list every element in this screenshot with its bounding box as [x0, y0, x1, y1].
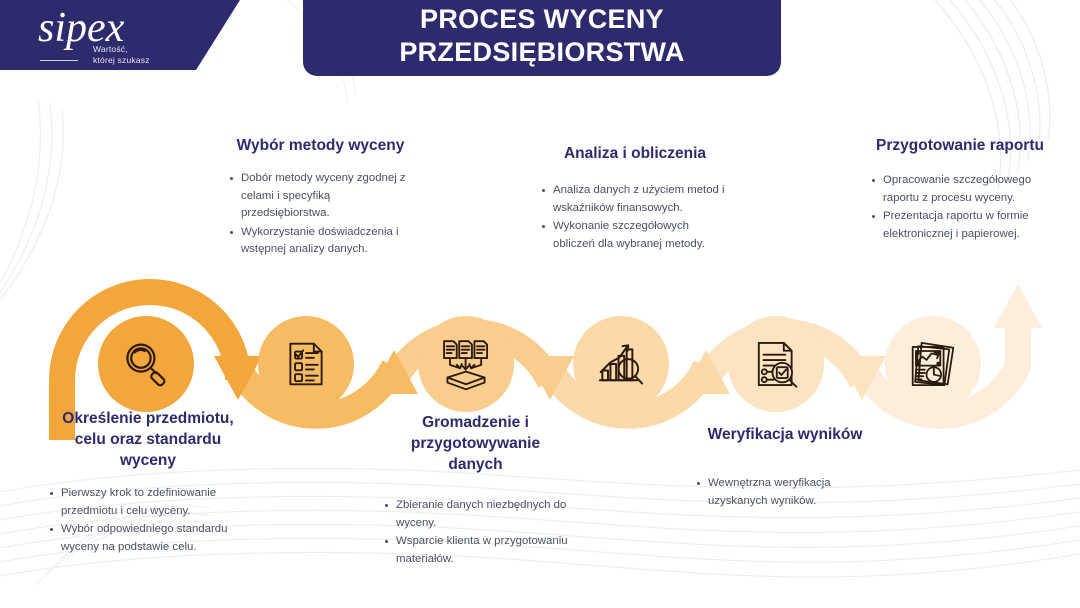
list-item: Wykorzystanie doświadczenia i wstępnej a… [241, 224, 413, 259]
step-bullets-5: Wewnętrzna weryfikacja uzyskanych wynikó… [695, 475, 875, 510]
magnifier-icon [119, 337, 173, 391]
brand-tagline: Wartość, której szukasz [93, 44, 150, 66]
step-circle-4[interactable] [573, 316, 669, 412]
document-check-magnifier-icon [751, 339, 801, 389]
page-title-line2: PRZEDSIĘBIORSTWA [399, 36, 684, 69]
page-title-card: PROCES WYCENY PRZEDSIĘBIORSTWA [303, 0, 781, 76]
step-text-3: Gromadzenie i przygotowywanie danych Zbi… [383, 412, 568, 569]
step-circle-2[interactable] [258, 316, 354, 412]
step-bullets-2: Dobór metody wyceny zgodnej z celami i s… [228, 170, 413, 259]
brand-tagline-line2: której szukasz [93, 55, 150, 66]
step-title-1: Określenie przedmiotu, celu oraz standar… [48, 408, 248, 471]
bar-chart-magnifier-icon [595, 338, 647, 390]
step-text-1: Określenie przedmiotu, celu oraz standar… [48, 408, 248, 557]
step-bullets-1: Pierwszy krok to zdefiniowanie przedmiot… [48, 485, 248, 556]
documents-to-box-icon [439, 337, 493, 391]
report-chart-icon [907, 338, 959, 390]
step-bullets-4: Analiza danych z użyciem metod i wskaźni… [540, 182, 730, 253]
step-circle-6[interactable] [885, 316, 981, 412]
step-title-3: Gromadzenie i przygotowywanie danych [383, 412, 568, 475]
step-circle-5[interactable] [728, 316, 824, 412]
step-text-2: Wybór metody wyceny Dobór metody wyceny … [228, 135, 413, 260]
step-text-4: Analiza i obliczenia Analiza danych z uż… [540, 143, 730, 254]
step-title-2: Wybór metody wyceny [228, 135, 413, 156]
list-item: Analiza danych z użyciem metod i wskaźni… [553, 182, 730, 217]
list-item: Dobór metody wyceny zgodnej z celami i s… [241, 170, 413, 223]
step-circle-1[interactable] [98, 316, 194, 412]
page-title: PROCES WYCENY PRZEDSIĘBIORSTWA [399, 0, 684, 69]
list-item: Wykonanie szczegółowych obliczeń dla wyb… [553, 218, 730, 253]
list-item: Wewnętrzna weryfikacja uzyskanych wynikó… [708, 475, 875, 510]
list-item: Pierwszy krok to zdefiniowanie przedmiot… [61, 485, 248, 520]
checklist-document-icon [281, 339, 331, 389]
page-title-line1: PROCES WYCENY [399, 3, 684, 36]
list-item: Wybór odpowiedniego standardu wyceny na … [61, 521, 248, 556]
list-item: Prezentacja raportu w formie elektronicz… [883, 208, 1050, 243]
step-text-6: Przygotowanie raportu Opracowanie szczeg… [870, 135, 1050, 244]
step-bullets-3: Zbieranie danych niezbędnych do wyceny. … [383, 497, 568, 568]
step-circle-3[interactable] [418, 316, 514, 412]
list-item: Opracowanie szczegółowego raportu z proc… [883, 172, 1050, 207]
step-text-5: Weryfikacja wyników Wewnętrzna weryfikac… [695, 424, 875, 511]
list-item: Zbieranie danych niezbędnych do wyceny. [396, 497, 568, 532]
step-title-5: Weryfikacja wyników [695, 424, 875, 445]
brand-tagline-line1: Wartość, [93, 44, 150, 55]
step-title-4: Analiza i obliczenia [540, 143, 730, 164]
arrow-head-6 [994, 284, 1042, 328]
brand-logo[interactable]: sipex Wartość, której szukasz [0, 0, 240, 78]
infographic-canvas: sipex Wartość, której szukasz PROCES WYC… [0, 0, 1080, 608]
step-title-6: Przygotowanie raportu [870, 135, 1050, 156]
list-item: Wsparcie klienta w przygotowaniu materia… [396, 533, 568, 568]
step-bullets-6: Opracowanie szczegółowego raportu z proc… [870, 172, 1050, 243]
logo-divider [40, 60, 78, 61]
